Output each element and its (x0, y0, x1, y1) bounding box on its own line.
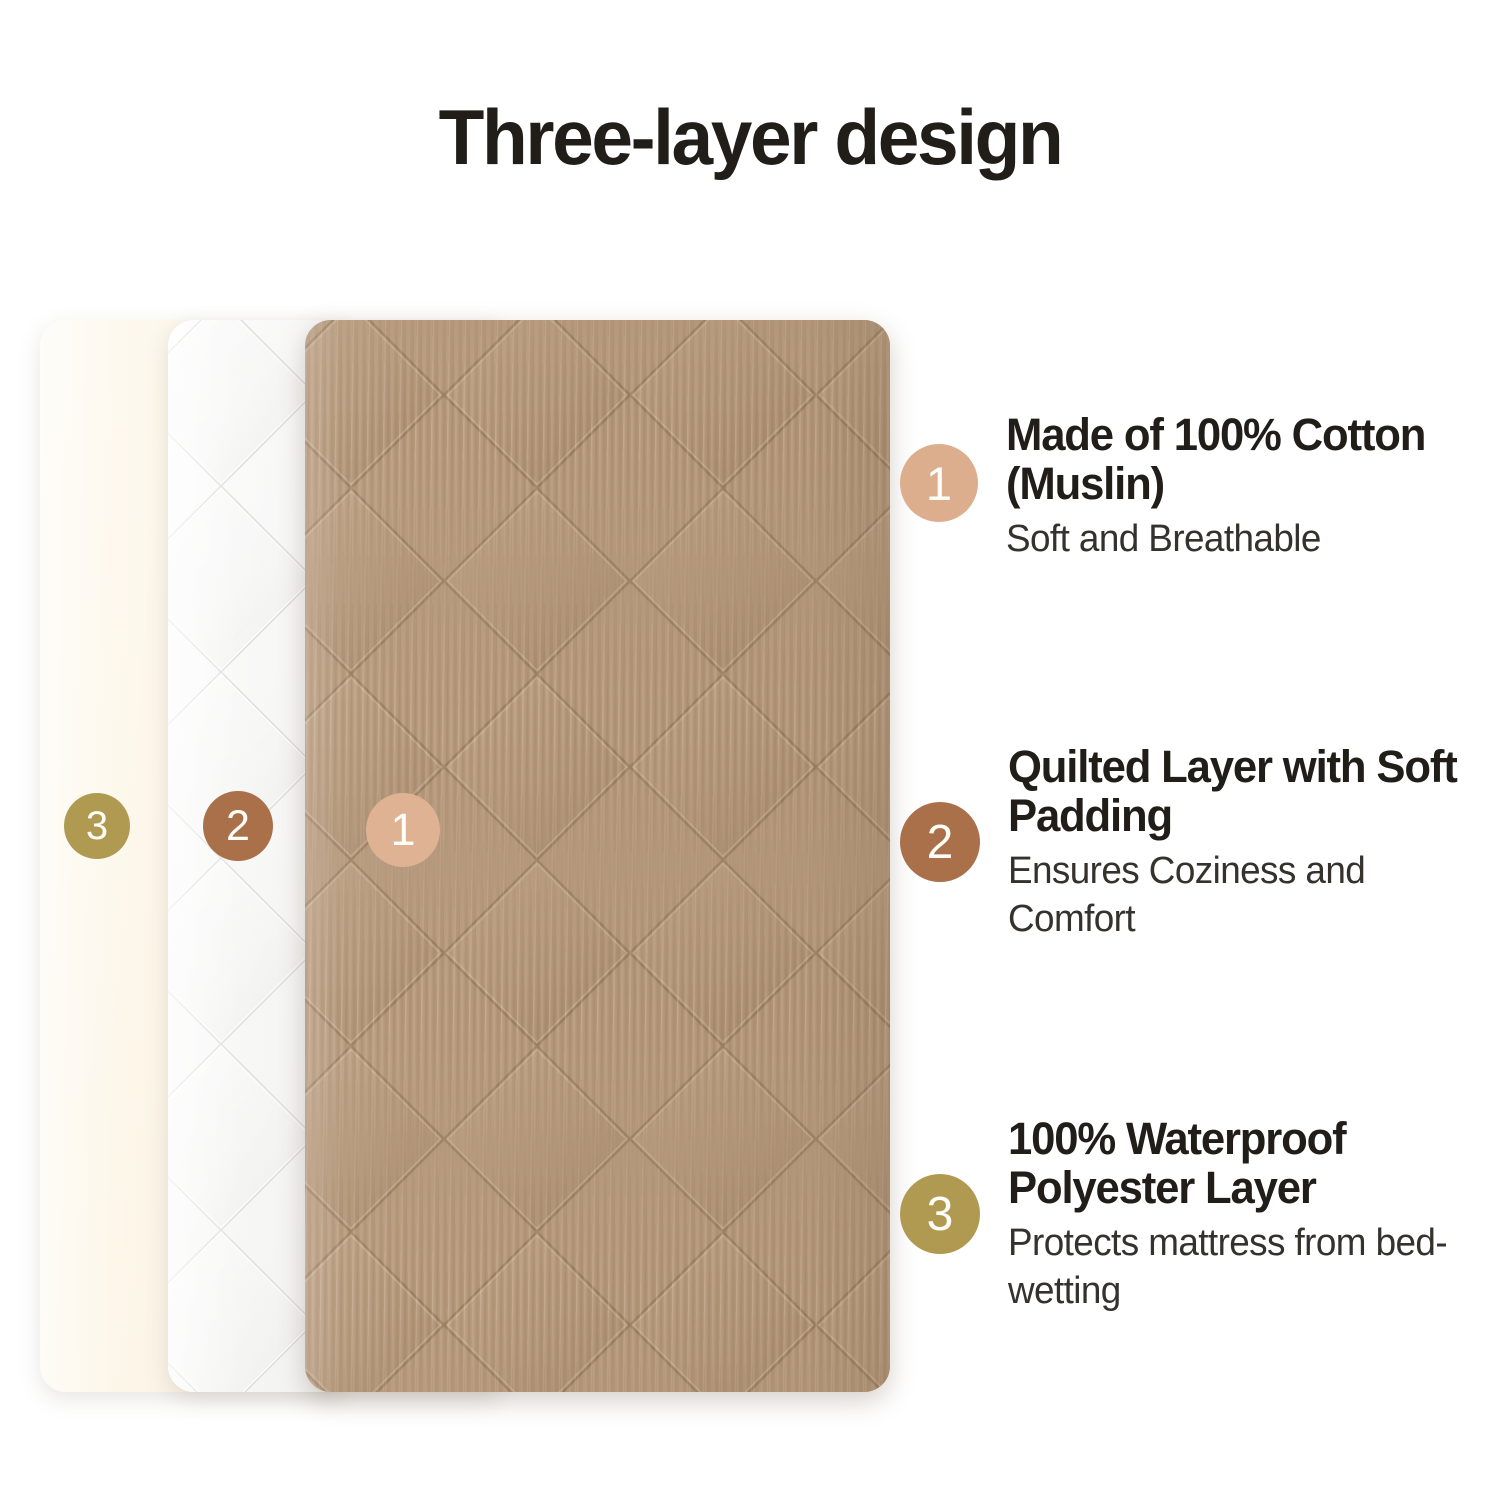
feature-heading-3: 100% Waterproof Polyester Layer (1008, 1114, 1485, 1212)
feature-item-quilted-padding: 2 Quilted Layer with Soft Padding Ensure… (900, 740, 1500, 943)
feature-list: 1 Made of 100% Cotton (Muslin) Soft and … (900, 0, 1500, 1500)
feature-item-waterproof-layer: 3 100% Waterproof Polyester Layer Protec… (900, 1112, 1500, 1315)
layer-badge-3: 3 (64, 793, 130, 859)
feature-badge-2: 2 (900, 802, 980, 882)
product-layer-stack: 3 2 1 (0, 0, 960, 1500)
feature-text-3: 100% Waterproof Polyester Layer Protects… (1008, 1112, 1500, 1315)
feature-heading-2: Quilted Layer with Soft Padding (1008, 742, 1485, 840)
feature-subtext-2: Ensures Coziness and Comfort (1008, 848, 1485, 943)
feature-subtext-1: Soft and Breathable (1006, 516, 1485, 564)
feature-subtext-3: Protects mattress from bed-wetting (1008, 1220, 1485, 1315)
feature-badge-3: 3 (900, 1174, 980, 1254)
feature-heading-1: Made of 100% Cotton (Muslin) (1006, 410, 1485, 508)
feature-text-2: Quilted Layer with Soft Padding Ensures … (1008, 740, 1500, 943)
feature-badge-1: 1 (900, 444, 978, 522)
feature-item-cotton-muslin: 1 Made of 100% Cotton (Muslin) Soft and … (900, 408, 1500, 564)
layer-badge-2: 2 (203, 791, 273, 861)
feature-text-1: Made of 100% Cotton (Muslin) Soft and Br… (1006, 408, 1500, 564)
layer-badge-1: 1 (366, 793, 440, 867)
